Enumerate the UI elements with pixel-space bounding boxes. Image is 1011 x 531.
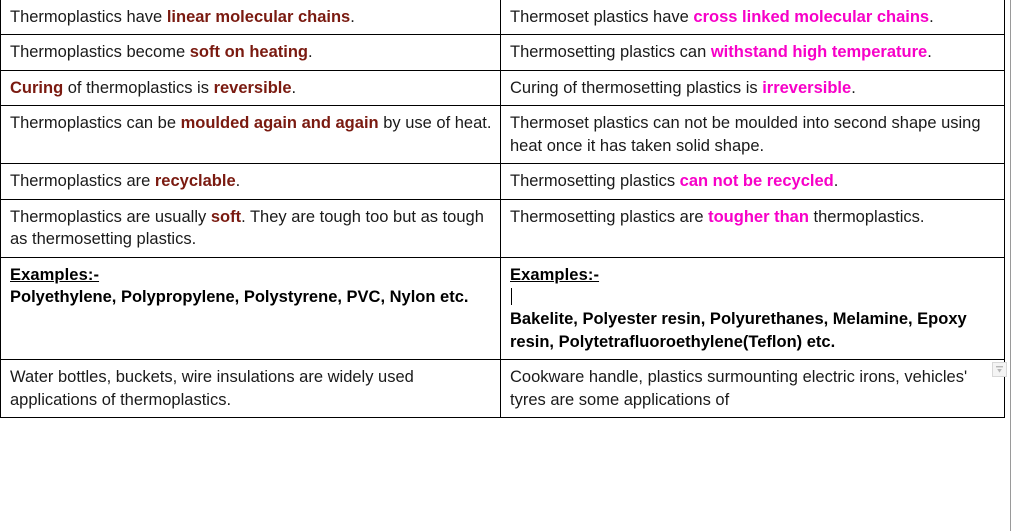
cell-left-examples: Examples:- Polyethylene, Polypropylene, … [1, 257, 501, 360]
scroll-down-marker-icon[interactable] [992, 362, 1007, 377]
cell-right-applications: Cookware handle, plastics surmounting el… [501, 360, 1005, 418]
emphasis-text: soft on heating [190, 43, 308, 61]
text-plain: Thermosetting plastics [510, 172, 680, 190]
text-plain: Thermoplastics are usually [10, 208, 211, 226]
cell-left-5: Thermoplastics are recyclable. [1, 164, 501, 199]
text-plain: Thermoplastics are [10, 172, 155, 190]
cell-left-3: Curing of thermoplastics is reversible. [1, 70, 501, 105]
text-plain: Curing of thermosetting plastics is [510, 79, 762, 97]
table-row-applications: Water bottles, buckets, wire insulations… [1, 360, 1005, 418]
examples-heading-left: Examples:- [10, 264, 492, 286]
table-row: Thermoplastics are recyclable. Thermoset… [1, 164, 1005, 199]
text-plain: . [236, 172, 241, 190]
applications-text-right: Cookware handle, plastics surmounting el… [510, 366, 996, 411]
text-plain: . [292, 79, 297, 97]
text-plain: . [834, 172, 839, 190]
cell-right-1: Thermoset plastics have cross linked mol… [501, 0, 1005, 35]
emphasis-text: reversible [214, 79, 292, 97]
emphasis-text: recyclable [155, 172, 236, 190]
cell-left-1: Thermoplastics have linear molecular cha… [1, 0, 501, 35]
table-row: Thermoplastics have linear molecular cha… [1, 0, 1005, 35]
text-plain: by use of heat. [379, 114, 492, 132]
text-plain: Thermosetting plastics can [510, 43, 711, 61]
cell-right-6: Thermosetting plastics are tougher than … [501, 199, 1005, 257]
emphasis-text: irreversible [762, 79, 851, 97]
examples-body-left: Polyethylene, Polypropylene, Polystyrene… [10, 286, 492, 308]
applications-text-left: Water bottles, buckets, wire insulations… [10, 366, 492, 411]
text-plain: Thermoplastics become [10, 43, 190, 61]
emphasis-text: Curing [10, 79, 63, 97]
emphasis-text: soft [211, 208, 241, 226]
text-plain: . [350, 8, 355, 26]
emphasis-text: moulded again and again [181, 114, 379, 132]
text-plain: . [851, 79, 856, 97]
cell-right-3: Curing of thermosetting plastics is irre… [501, 70, 1005, 105]
table-row: Thermoplastics are usually soft. They ar… [1, 199, 1005, 257]
cell-right-4: Thermoset plastics can not be moulded in… [501, 106, 1005, 164]
text-plain: Thermoplastics have [10, 8, 167, 26]
text-plain: . [927, 43, 932, 61]
cell-left-applications: Water bottles, buckets, wire insulations… [1, 360, 501, 418]
cell-right-5: Thermosetting plastics can not be recycl… [501, 164, 1005, 199]
cell-left-6: Thermoplastics are usually soft. They ar… [1, 199, 501, 257]
text-plain: Thermoset plastics have [510, 8, 693, 26]
text-plain: Thermosetting plastics are [510, 208, 708, 226]
text-plain: . [929, 8, 934, 26]
text-plain: Thermoplastics can be [10, 114, 181, 132]
cell-right-2: Thermosetting plastics can withstand hig… [501, 35, 1005, 70]
table-row: Curing of thermoplastics is reversible. … [1, 70, 1005, 105]
table-body: Thermoplastics have linear molecular cha… [1, 0, 1005, 418]
comparison-table: Thermoplastics have linear molecular cha… [0, 0, 1005, 418]
text-plain: . [308, 43, 313, 61]
cell-right-examples[interactable]: Examples:- Bakelite, Polyester resin, Po… [501, 257, 1005, 360]
text-plain: thermoplastics. [809, 208, 925, 226]
emphasis-text: tougher than [708, 208, 809, 226]
table-row-examples: Examples:- Polyethylene, Polypropylene, … [1, 257, 1005, 360]
text-plain: of thermoplastics is [63, 79, 213, 97]
examples-heading-right: Examples:- [510, 264, 996, 286]
table-row: Thermoplastics become soft on heating. T… [1, 35, 1005, 70]
cell-left-2: Thermoplastics become soft on heating. [1, 35, 501, 70]
emphasis-text: can not be recycled [680, 172, 834, 190]
emphasis-text: withstand high temperature [711, 43, 927, 61]
emphasis-text: linear molecular chains [167, 8, 350, 26]
document-page: Thermoplastics have linear molecular cha… [0, 0, 1011, 531]
cell-left-4: Thermoplastics can be moulded again and … [1, 106, 501, 164]
table-row: Thermoplastics can be moulded again and … [1, 106, 1005, 164]
emphasis-text: cross linked molecular chains [693, 8, 929, 26]
examples-body-right: Bakelite, Polyester resin, Polyurethanes… [510, 308, 996, 353]
text-plain: Thermoset plastics can not be moulded in… [510, 114, 981, 154]
text-caret [511, 288, 512, 305]
examples-heading-right-text: Examples:- [510, 266, 599, 284]
